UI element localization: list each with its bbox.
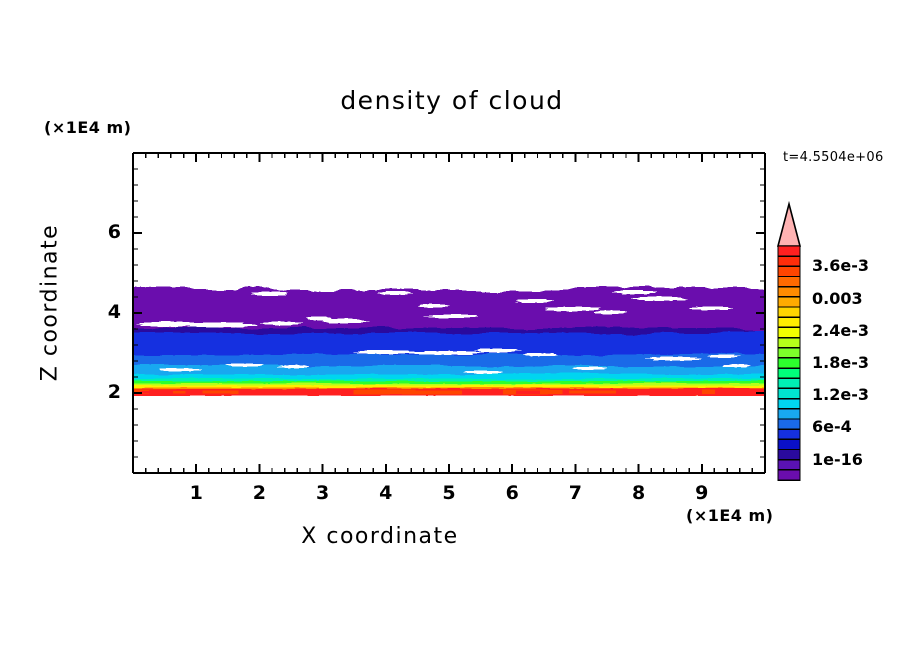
x-tick-label: 4 <box>366 482 406 504</box>
colorbar-tick-label: 0.003 <box>812 289 863 308</box>
colorbar-tick-label: 6e-4 <box>812 417 852 436</box>
y-tick-label: 6 <box>95 221 121 243</box>
colorbar-tick-label: 3.6e-3 <box>812 256 869 275</box>
axis-frame <box>0 0 904 654</box>
x-tick-label: 7 <box>555 482 595 504</box>
x-tick-label: 3 <box>303 482 343 504</box>
colorbar <box>770 200 810 490</box>
colorbar-tick-label: 1e-16 <box>812 450 863 469</box>
x-axis-unit-label: (×1E4 m) <box>686 506 773 525</box>
colorbar-tick-label: 1.8e-3 <box>812 353 869 372</box>
y-tick-label: 2 <box>95 381 121 403</box>
x-tick-label: 2 <box>239 482 279 504</box>
x-tick-label: 5 <box>429 482 469 504</box>
x-tick-label: 8 <box>619 482 659 504</box>
y-tick-label: 4 <box>95 301 121 323</box>
x-tick-label: 1 <box>176 482 216 504</box>
y-axis-title: Z coordinate <box>38 223 63 383</box>
colorbar-tick-label: 2.4e-3 <box>812 321 869 340</box>
x-tick-label: 9 <box>682 482 722 504</box>
x-tick-label: 6 <box>492 482 532 504</box>
x-axis-title: X coordinate <box>0 524 760 549</box>
colorbar-tick-label: 1.2e-3 <box>812 385 869 404</box>
